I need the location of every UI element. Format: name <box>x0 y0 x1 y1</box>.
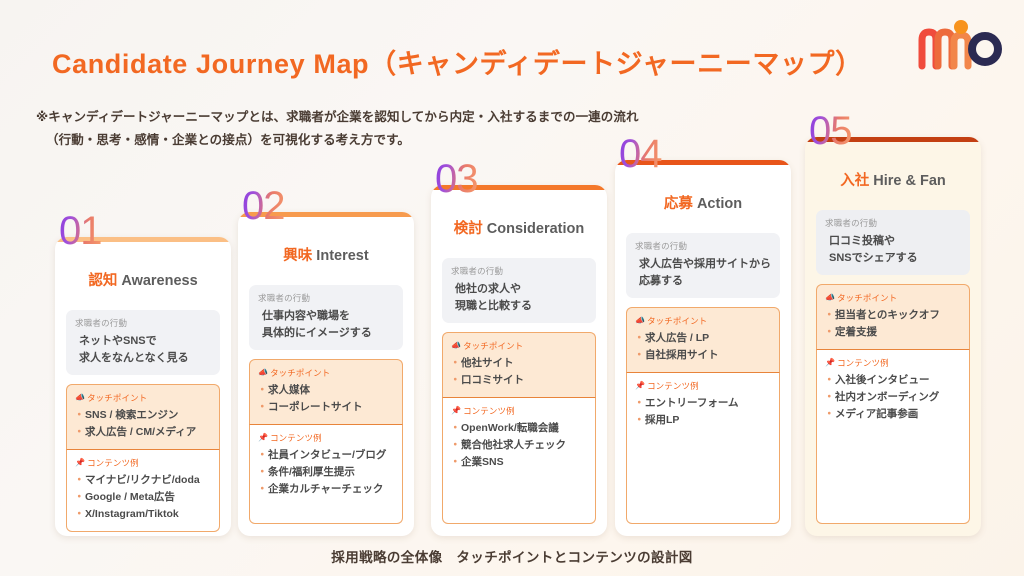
contents-list: エントリーフォーム採用LP <box>635 395 771 429</box>
card-title-jp: 興味 <box>283 248 312 264</box>
contents-item: OpenWork/転職会議 <box>451 420 587 437</box>
contents-item: 社内オンボーディング <box>825 389 961 406</box>
journey-card-01[interactable]: 認知 Awareness求職者の行動ネットやSNSで求人をなんとなく見る📣タッチ… <box>55 237 231 536</box>
contents-list: マイナビ/リクナビ/dodaGoogle / Meta広告X/Instagram… <box>75 472 211 523</box>
touchpoint-item: コーポレートサイト <box>258 399 394 416</box>
touchpoint-box: 📣タッチポイント求人媒体コーポレートサイト <box>249 359 403 425</box>
contents-box: 📌コンテンツ例マイナビ/リクナビ/dodaGoogle / Meta広告X/In… <box>66 450 220 532</box>
card-title-jp: 入社 <box>840 173 869 189</box>
behavior-box: 求職者の行動口コミ投稿やSNSでシェアする <box>816 210 970 275</box>
behavior-box: 求職者の行動ネットやSNSで求人をなんとなく見る <box>66 310 220 375</box>
journey-card-03[interactable]: 検討 Consideration求職者の行動他社の求人や現職と比較する📣タッチポ… <box>431 185 607 536</box>
contents-item: メディア記事参画 <box>825 406 961 423</box>
touchpoint-label: 📣タッチポイント <box>825 292 961 304</box>
contents-item: 競合他社求人チェック <box>451 437 587 454</box>
touchpoint-label-text: タッチポイント <box>270 367 330 379</box>
contents-item: 社員インタビュー/ブログ <box>258 447 394 464</box>
megaphone-icon: 📣 <box>75 394 85 402</box>
card-title-en: Hire & Fan <box>869 173 946 189</box>
journey-card-04[interactable]: 応募 Action求職者の行動求人広告や採用サイトから応募する📣タッチポイント求… <box>615 160 791 536</box>
contents-box: 📌コンテンツ例社員インタビュー/ブログ条件/福利厚生提示企業カルチャーチェック <box>249 425 403 524</box>
contents-box: 📌コンテンツ例入社後インタビュー社内オンボーディングメディア記事参画 <box>816 350 970 524</box>
touchpoint-box: 📣タッチポイント他社サイト口コミサイト <box>442 332 596 398</box>
behavior-text: 求人広告や採用サイトから応募する <box>635 256 771 289</box>
touchpoint-list: SNS / 検索エンジン求人広告 / CM/メディア <box>75 407 211 441</box>
pushpin-icon: 📌 <box>451 407 461 415</box>
touchpoint-item: 求人広告 / CM/メディア <box>75 424 211 441</box>
touchpoint-item: 求人広告 / LP <box>635 330 771 347</box>
behavior-line: 他社の求人や <box>455 281 587 298</box>
contents-label-text: コンテンツ例 <box>647 380 699 392</box>
card-title: 興味 Interest <box>249 244 403 265</box>
journey-card-05[interactable]: 入社 Hire & Fan求職者の行動口コミ投稿やSNSでシェアする📣タッチポイ… <box>805 137 981 536</box>
touchpoint-box: 📣タッチポイント担当者とのキックオフ定着支援 <box>816 284 970 350</box>
behavior-box: 求職者の行動他社の求人や現職と比較する <box>442 258 596 323</box>
behavior-line: 口コミ投稿や <box>829 233 961 250</box>
touchpoint-label: 📣タッチポイント <box>258 367 394 379</box>
pushpin-icon: 📌 <box>75 459 85 467</box>
footer-caption: 採用戦略の全体像 タッチポイントとコンテンツの設計図 <box>0 546 1024 566</box>
touchpoint-box: 📣タッチポイントSNS / 検索エンジン求人広告 / CM/メディア <box>66 384 220 450</box>
behavior-label: 求職者の行動 <box>635 240 771 252</box>
touchpoint-label-text: タッチポイント <box>647 315 707 327</box>
contents-label: 📌コンテンツ例 <box>635 380 771 392</box>
behavior-label: 求職者の行動 <box>258 292 394 304</box>
card-body: 入社 Hire & Fan求職者の行動口コミ投稿やSNSでシェアする📣タッチポイ… <box>805 142 981 536</box>
pushpin-icon: 📌 <box>825 359 835 367</box>
card-body: 認知 Awareness求職者の行動ネットやSNSで求人をなんとなく見る📣タッチ… <box>55 242 231 536</box>
behavior-label: 求職者の行動 <box>451 265 587 277</box>
card-title: 検討 Consideration <box>442 217 596 238</box>
behavior-line: 求人広告や採用サイトから <box>639 256 771 273</box>
card-body: 興味 Interest求職者の行動仕事内容や職場を具体的にイメージする📣タッチポ… <box>238 217 414 536</box>
pushpin-icon: 📌 <box>258 434 268 442</box>
behavior-text: 他社の求人や現職と比較する <box>451 281 587 314</box>
touchpoint-list: 求人媒体コーポレートサイト <box>258 382 394 416</box>
touchpoint-item: 定着支援 <box>825 324 961 341</box>
behavior-box: 求職者の行動仕事内容や職場を具体的にイメージする <box>249 285 403 350</box>
contents-label: 📌コンテンツ例 <box>451 405 587 417</box>
contents-label-text: コンテンツ例 <box>463 405 515 417</box>
contents-item: 企業SNS <box>451 454 587 471</box>
behavior-box: 求職者の行動求人広告や採用サイトから応募する <box>626 233 780 298</box>
behavior-label: 求職者の行動 <box>75 317 211 329</box>
contents-item: Google / Meta広告 <box>75 489 211 506</box>
contents-item: 企業カルチャーチェック <box>258 481 394 498</box>
touchpoint-label-text: タッチポイント <box>463 340 523 352</box>
touchpoint-item: 口コミサイト <box>451 372 587 389</box>
contents-item: 採用LP <box>635 412 771 429</box>
touchpoint-label-text: タッチポイント <box>837 292 897 304</box>
touchpoint-label: 📣タッチポイント <box>451 340 587 352</box>
touchpoint-item: 担当者とのキックオフ <box>825 307 961 324</box>
touchpoint-label-text: タッチポイント <box>87 392 147 404</box>
contents-label-text: コンテンツ例 <box>87 457 139 469</box>
touchpoint-list: 求人広告 / LP自社採用サイト <box>635 330 771 364</box>
card-title-jp: 応募 <box>664 196 693 212</box>
card-title-en: Consideration <box>483 221 585 237</box>
megaphone-icon: 📣 <box>258 369 268 377</box>
touchpoint-item: 自社採用サイト <box>635 347 771 364</box>
contents-box: 📌コンテンツ例エントリーフォーム採用LP <box>626 373 780 524</box>
card-title-jp: 検討 <box>454 221 483 237</box>
touchpoint-item: SNS / 検索エンジン <box>75 407 211 424</box>
touchpoint-label: 📣タッチポイント <box>75 392 211 404</box>
contents-item: マイナビ/リクナビ/doda <box>75 472 211 489</box>
contents-label-text: コンテンツ例 <box>837 357 889 369</box>
behavior-line: 応募する <box>639 273 771 290</box>
contents-list: 入社後インタビュー社内オンボーディングメディア記事参画 <box>825 372 961 423</box>
behavior-label: 求職者の行動 <box>825 217 961 229</box>
behavior-text: 口コミ投稿やSNSでシェアする <box>825 233 961 266</box>
touchpoint-list: 担当者とのキックオフ定着支援 <box>825 307 961 341</box>
behavior-text: ネットやSNSで求人をなんとなく見る <box>75 333 211 366</box>
behavior-line: 現職と比較する <box>455 298 587 315</box>
behavior-line: ネットやSNSで <box>79 333 211 350</box>
touchpoint-list: 他社サイト口コミサイト <box>451 355 587 389</box>
contents-list: 社員インタビュー/ブログ条件/福利厚生提示企業カルチャーチェック <box>258 447 394 498</box>
card-title-en: Action <box>693 196 742 212</box>
card-title: 応募 Action <box>626 192 780 213</box>
touchpoint-label: 📣タッチポイント <box>635 315 771 327</box>
journey-cards-stage: 認知 Awareness求職者の行動ネットやSNSで求人をなんとなく見る📣タッチ… <box>0 0 1024 576</box>
touchpoint-item: 求人媒体 <box>258 382 394 399</box>
contents-item: 入社後インタビュー <box>825 372 961 389</box>
contents-label: 📌コンテンツ例 <box>258 432 394 444</box>
touchpoint-box: 📣タッチポイント求人広告 / LP自社採用サイト <box>626 307 780 373</box>
contents-item: X/Instagram/Tiktok <box>75 506 211 523</box>
card-body: 応募 Action求職者の行動求人広告や採用サイトから応募する📣タッチポイント求… <box>615 165 791 536</box>
behavior-line: SNSでシェアする <box>829 250 961 267</box>
card-title-en: Awareness <box>117 273 197 289</box>
behavior-line: 仕事内容や職場を <box>262 308 394 325</box>
behavior-text: 仕事内容や職場を具体的にイメージする <box>258 308 394 341</box>
pushpin-icon: 📌 <box>635 382 645 390</box>
contents-list: OpenWork/転職会議競合他社求人チェック企業SNS <box>451 420 587 471</box>
contents-item: エントリーフォーム <box>635 395 771 412</box>
card-title: 入社 Hire & Fan <box>816 169 970 190</box>
card-title-jp: 認知 <box>88 273 117 289</box>
touchpoint-item: 他社サイト <box>451 355 587 372</box>
card-title-en: Interest <box>312 248 368 264</box>
contents-box: 📌コンテンツ例OpenWork/転職会議競合他社求人チェック企業SNS <box>442 398 596 524</box>
card-body: 検討 Consideration求職者の行動他社の求人や現職と比較する📣タッチポ… <box>431 190 607 536</box>
contents-label-text: コンテンツ例 <box>270 432 322 444</box>
megaphone-icon: 📣 <box>825 294 835 302</box>
behavior-line: 具体的にイメージする <box>262 325 394 342</box>
contents-item: 条件/福利厚生提示 <box>258 464 394 481</box>
card-title: 認知 Awareness <box>66 269 220 290</box>
behavior-line: 求人をなんとなく見る <box>79 350 211 367</box>
contents-label: 📌コンテンツ例 <box>75 457 211 469</box>
megaphone-icon: 📣 <box>635 317 645 325</box>
contents-label: 📌コンテンツ例 <box>825 357 961 369</box>
journey-card-02[interactable]: 興味 Interest求職者の行動仕事内容や職場を具体的にイメージする📣タッチポ… <box>238 212 414 536</box>
megaphone-icon: 📣 <box>451 342 461 350</box>
